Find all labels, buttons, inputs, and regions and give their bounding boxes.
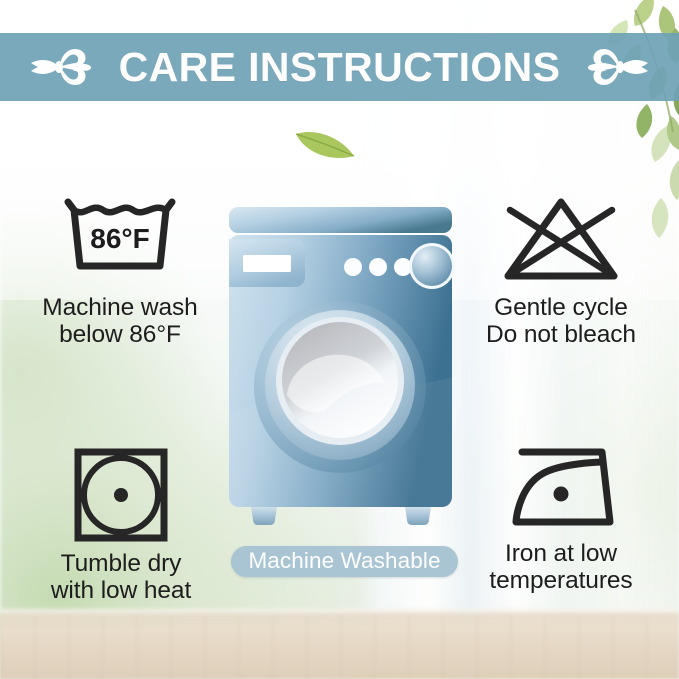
care-item-label-do-not-bleach: Gentle cycleDo not bleach xyxy=(486,294,636,349)
do-not-bleach-triangle-icon xyxy=(498,192,624,288)
washer-top-lid xyxy=(229,207,452,233)
care-item-iron-low: Iron at lowtemperatures xyxy=(452,444,670,595)
machine-washable-badge: Machine Washable xyxy=(231,546,458,577)
washer-control-knob xyxy=(412,246,452,286)
washer-control-dot-1 xyxy=(344,258,362,276)
washing-machine-illustration xyxy=(225,205,456,530)
care-item-label-iron-low: Iron at lowtemperatures xyxy=(489,540,632,595)
washer-foot-left xyxy=(251,507,277,525)
care-item-do-not-bleach: Gentle cycleDo not bleach xyxy=(452,192,670,349)
header-banner: CARE INSTRUCTIONS xyxy=(0,33,679,101)
care-item-label-machine-wash: Machine washbelow 86°F xyxy=(42,294,197,349)
care-item-label-tumble-dry: Tumble drywith low heat xyxy=(51,550,191,605)
washer-control-dot-2 xyxy=(369,258,387,276)
machine-washable-badge-text: Machine Washable xyxy=(248,550,440,573)
fleur-de-lis-icon-left xyxy=(27,43,93,91)
care-instructions-card: CARE INSTRUCTIONS 86°F Machine washbelow… xyxy=(0,0,679,679)
iron-low-icon xyxy=(498,444,624,534)
wash-temperature-value: 86°F xyxy=(90,223,149,254)
washer-drawer-slot xyxy=(243,255,291,272)
care-item-tumble-dry: Tumble drywith low heat xyxy=(14,444,228,605)
tumble-dry-low-icon xyxy=(70,444,172,544)
page-title: CARE INSTRUCTIONS xyxy=(119,47,561,88)
fleur-de-lis-icon-right xyxy=(586,43,652,91)
washer-foot-right xyxy=(405,507,431,525)
care-item-machine-wash: 86°F Machine washbelow 86°F xyxy=(12,192,228,349)
wash-tub-icon: 86°F xyxy=(54,192,186,288)
table-wood-grain xyxy=(0,617,679,679)
